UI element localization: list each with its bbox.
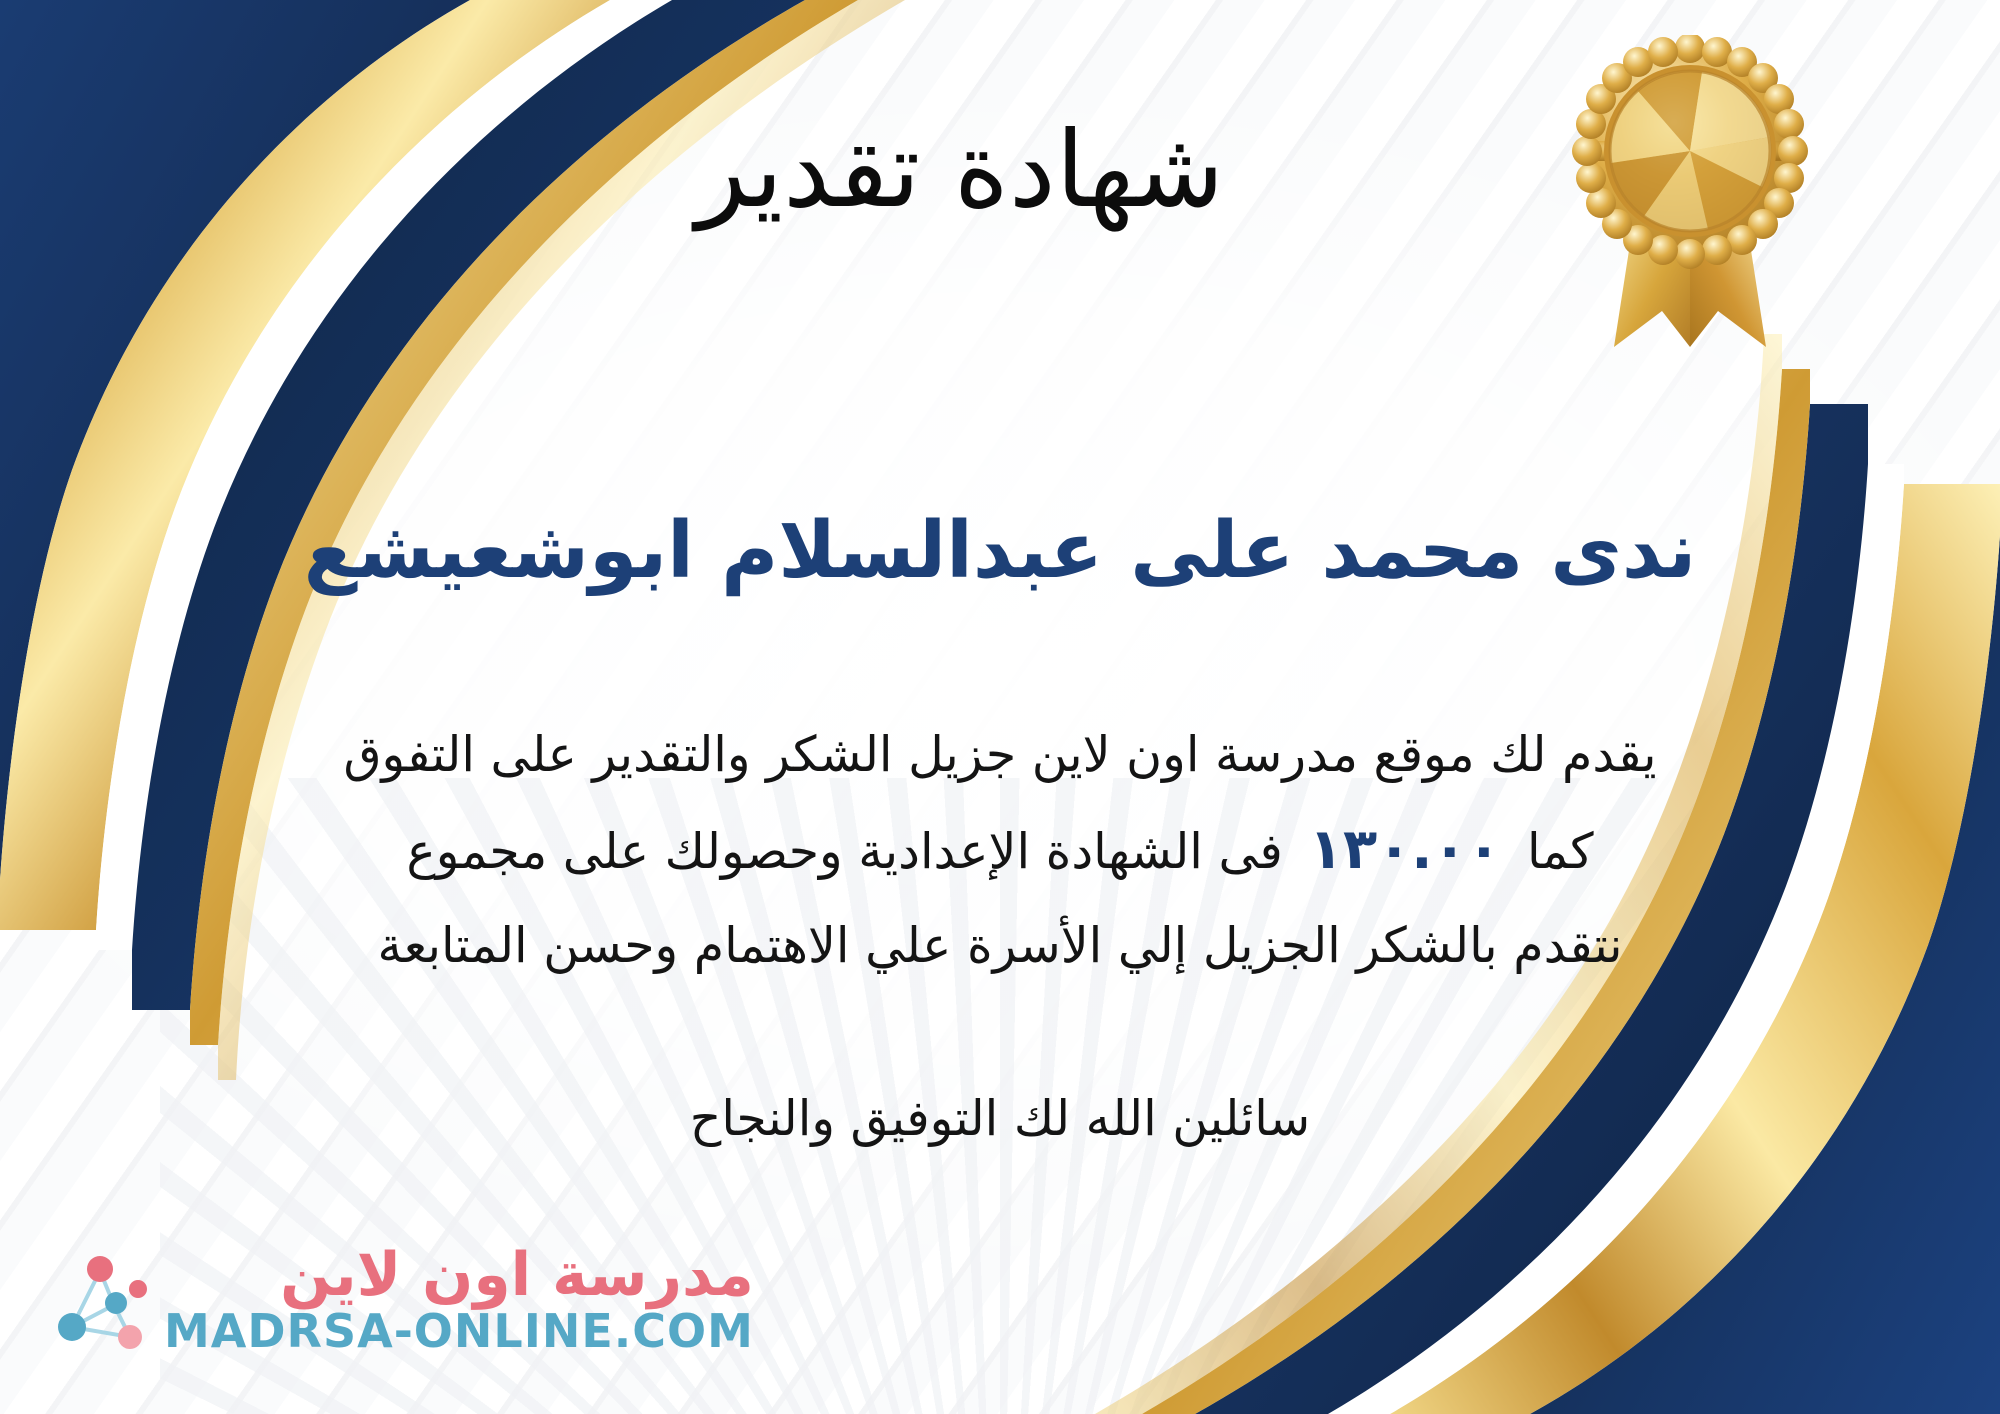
body-line-2-before-score: فى الشهادة الإعدادية وحصولك على مجموع xyxy=(406,823,1282,880)
brand-logo-text: مدرسة اون لاين MADRSA-ONLINE.COM xyxy=(164,1244,754,1355)
gold-award-seal-icon xyxy=(1570,35,1810,365)
network-nodes-logo-icon xyxy=(42,1241,150,1359)
body-line-2-after-score: كما xyxy=(1527,823,1594,880)
body-line-1: يقدم لك موقع مدرسة اون لاين جزيل الشكر و… xyxy=(60,710,1940,799)
body-line-3: نتقدم بالشكر الجزيل إلي الأسرة علي الاهت… xyxy=(60,901,1940,990)
total-score-value: ١٣٠.٠٠ xyxy=(1283,817,1527,882)
student-name: ندى محمد على عبدالسلام ابوشعيشع xyxy=(0,505,2000,599)
body-line-2: كما١٣٠.٠٠فى الشهادة الإعدادية وحصولك على… xyxy=(60,799,1940,901)
brand-name-arabic: مدرسة اون لاين xyxy=(280,1244,754,1307)
closing-line: سائلين الله لك التوفيق والنجاح xyxy=(0,1090,2000,1147)
certificate-body: يقدم لك موقع مدرسة اون لاين جزيل الشكر و… xyxy=(60,710,1940,990)
brand-logo[interactable]: مدرسة اون لاين MADRSA-ONLINE.COM xyxy=(42,1241,754,1359)
brand-domain: MADRSA-ONLINE.COM xyxy=(164,1307,754,1355)
certificate-page: شهادة تقدير ندى محمد على عبدالسلام ابوشع… xyxy=(0,0,2000,1414)
